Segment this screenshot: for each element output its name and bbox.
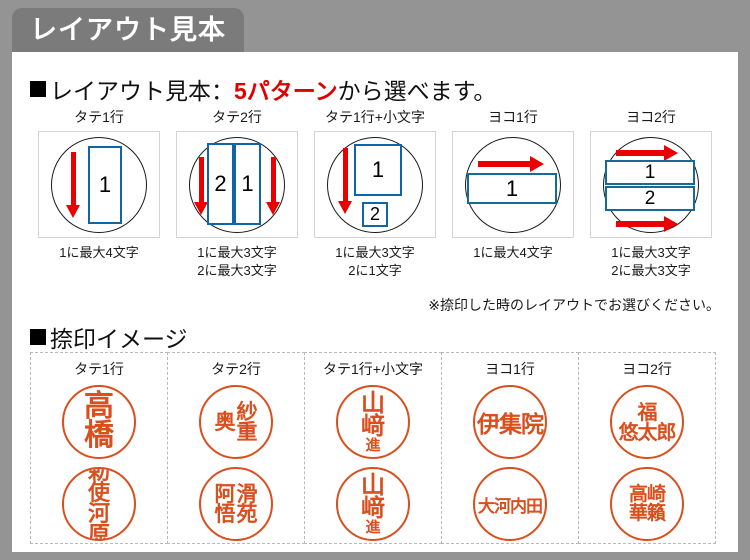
caption-line: 1に最大4文字 — [59, 244, 138, 262]
stamp-cell-horizontal-1-line[interactable]: ヨコ1行 伊集院 大河内田 — [441, 352, 579, 544]
pattern-option-vertical-1-line[interactable]: タテ1行 1 1に最大4文字 — [30, 107, 168, 279]
pattern-diagram: 1 2 — [590, 131, 712, 238]
header-tab: レイアウト見本 — [12, 8, 244, 52]
stamp-cell-label: タテ2行 — [211, 359, 261, 379]
seal-char-small: 進 — [365, 438, 380, 452]
box-number: 2 — [214, 171, 226, 197]
pattern-diagram: 1 — [38, 131, 160, 238]
pattern-caption: 1に最大3文字 2に最大3文字 — [197, 244, 276, 279]
seal-text: 大河内田 — [478, 497, 542, 517]
seal-char-small: 進 — [365, 520, 380, 534]
pattern-caption: 1に最大4文字 — [473, 244, 552, 262]
text-box-1: 1 — [467, 173, 557, 204]
pattern-caption: 1に最大4文字 — [59, 244, 138, 262]
caption-line: 1に最大3文字 — [335, 244, 414, 262]
heading-prefix: レイアウト見本： — [50, 72, 234, 106]
stamp-section-heading: 捺印イメージ — [30, 320, 188, 354]
seal-stamp: 勅 使 河 原 — [62, 467, 136, 541]
seal-text-two-columns: 滑 苑 阿 悟 — [215, 484, 258, 524]
seal-stamp: 山 﨑 進 — [336, 467, 410, 541]
seal-text-vertical-with-small: 山 﨑 進 — [361, 392, 385, 452]
page-title: レイアウト見本 — [30, 17, 226, 44]
caption-line: 2に最大3文字 — [197, 262, 276, 280]
box-number: 1 — [506, 176, 518, 202]
layout-section-heading: レイアウト見本： 5パターン から選べます。 — [30, 72, 496, 106]
stamp-cell-label: ヨコ2行 — [622, 359, 672, 379]
pattern-row: タテ1行 1 1に最大4文字 タテ2行 — [30, 107, 720, 279]
pattern-caption: 1に最大3文字 2に最大3文字 — [611, 244, 690, 279]
content-panel: レイアウト見本： 5パターン から選べます。 タテ1行 1 1に最大4文字 — [12, 52, 738, 552]
box-number: 2 — [370, 204, 380, 225]
stamp-heading-text: 捺印イメージ — [50, 320, 188, 354]
layout-note: ※捺印した時のレイアウトでお選びください。 — [428, 295, 720, 315]
seal-char: 苑 — [237, 504, 258, 524]
seal-char: 橋 — [84, 422, 114, 451]
pattern-option-horizontal-1-line[interactable]: ヨコ1行 1 1に最大4文字 — [444, 107, 582, 279]
seal-column-right: 滑 苑 — [237, 484, 258, 524]
arrow-right-icon — [616, 218, 678, 230]
pattern-diagram: 2 1 — [176, 131, 298, 238]
stamp-cell-vertical-1-line-plus-small[interactable]: タテ1行+小文字 山 﨑 進 山 﨑 進 — [304, 352, 442, 544]
seal-stamp: 高 橋 — [62, 385, 136, 459]
seal-stamp: 福 悠太郎 — [610, 385, 684, 459]
seal-row-2: 華籟 — [629, 504, 665, 523]
arrow-right-icon — [616, 147, 678, 159]
arrow-right-icon — [478, 158, 544, 170]
pattern-label: タテ1行+小文字 — [325, 107, 425, 127]
stamp-cell-horizontal-2-line[interactable]: ヨコ2行 福 悠太郎 高崎 華籟 — [578, 352, 716, 544]
pattern-label: ヨコ1行 — [488, 107, 538, 127]
pattern-option-horizontal-2-line[interactable]: ヨコ2行 1 2 1に最大3文字 2 — [582, 107, 720, 279]
seal-stamp: 紗 重 奥 — [199, 385, 273, 459]
pattern-label: ヨコ2行 — [626, 107, 676, 127]
text-box-1: 1 — [234, 143, 261, 225]
seal-stamp: 山 﨑 進 — [336, 385, 410, 459]
seal-text-vertical: 高 橋 — [84, 393, 114, 451]
seal-stamp: 大河内田 — [473, 467, 547, 541]
box-number: 1 — [372, 157, 384, 183]
seal-stamp: 伊集院 — [473, 385, 547, 459]
text-box-1: 1 — [605, 160, 695, 185]
square-bullet-icon — [30, 329, 46, 345]
arrow-down-icon — [339, 148, 351, 214]
stamp-cell-vertical-1-line[interactable]: タテ1行 高 橋 勅 使 河 原 — [30, 352, 168, 544]
stamp-cell-label: タテ1行 — [74, 359, 124, 379]
pattern-caption: 1に最大3文字 2に1文字 — [335, 244, 414, 279]
text-box-2: 2 — [362, 202, 388, 227]
box-number: 2 — [645, 188, 656, 210]
pattern-diagram: 1 2 — [314, 131, 436, 238]
seal-text-vertical-with-small: 山 﨑 進 — [361, 474, 385, 534]
seal-char: 原 — [88, 525, 110, 541]
text-box-1: 1 — [354, 144, 402, 196]
seal-text: 伊集院 — [477, 411, 543, 438]
seal-char: 奥 — [215, 412, 236, 432]
seal-stamp: 高崎 華籟 — [610, 467, 684, 541]
seal-text-two-columns: 紗 重 奥 — [215, 402, 258, 442]
seal-column-left: 阿 悟 — [215, 484, 236, 524]
text-box-1: 1 — [88, 146, 122, 224]
caption-line: 1に最大4文字 — [473, 244, 552, 262]
stamp-cell-label: ヨコ1行 — [485, 359, 535, 379]
arrow-down-icon — [195, 157, 207, 215]
pattern-label: タテ2行 — [212, 107, 262, 127]
box-number: 1 — [645, 162, 656, 184]
seal-column-left: 奥 — [215, 412, 236, 432]
text-box-2: 2 — [605, 186, 695, 211]
pattern-option-vertical-1-line-plus-small[interactable]: タテ1行+小文字 1 2 1に最大3文字 2に1文字 — [306, 107, 444, 279]
seal-stamp: 滑 苑 阿 悟 — [199, 467, 273, 541]
seal-text-vertical: 勅 使 河 原 — [88, 467, 110, 541]
seal-column-right: 紗 重 — [237, 402, 258, 442]
seal-text-horizontal: 大河内田 — [478, 492, 542, 517]
seal-text-two-rows: 福 悠太郎 — [619, 402, 676, 442]
stamp-cell-label: タテ1行+小文字 — [323, 359, 423, 379]
box-number: 1 — [99, 172, 111, 198]
heading-highlight: 5パターン — [234, 72, 338, 106]
box-number: 1 — [241, 171, 253, 197]
seal-row-2: 悠太郎 — [619, 422, 676, 442]
seal-char: 﨑 — [361, 415, 385, 438]
seal-row-1: 福 — [638, 402, 657, 422]
square-bullet-icon — [30, 81, 46, 97]
caption-line: 2に1文字 — [335, 262, 414, 280]
caption-line: 1に最大3文字 — [197, 244, 276, 262]
arrow-down-icon — [67, 152, 79, 218]
caption-line: 2に最大3文字 — [611, 262, 690, 280]
heading-suffix: から選べます。 — [338, 72, 497, 106]
pattern-option-vertical-2-line[interactable]: タテ2行 2 1 1に最大3文字 2 — [168, 107, 306, 279]
pattern-diagram: 1 — [452, 131, 574, 238]
seal-text-two-rows: 高崎 華籟 — [629, 485, 665, 523]
caption-line: 1に最大3文字 — [611, 244, 690, 262]
stamp-sample-panel: タテ1行 高 橋 勅 使 河 原 タテ2行 — [30, 352, 720, 544]
arrow-down-icon — [267, 157, 279, 215]
seal-text-horizontal: 伊集院 — [477, 405, 543, 439]
seal-char: 悟 — [215, 504, 236, 524]
text-box-2: 2 — [207, 143, 234, 225]
seal-char: 﨑 — [361, 497, 385, 520]
stamp-cell-vertical-2-line[interactable]: タテ2行 紗 重 奥 滑 苑 — [167, 352, 305, 544]
pattern-label: タテ1行 — [74, 107, 124, 127]
seal-char: 重 — [237, 422, 258, 442]
